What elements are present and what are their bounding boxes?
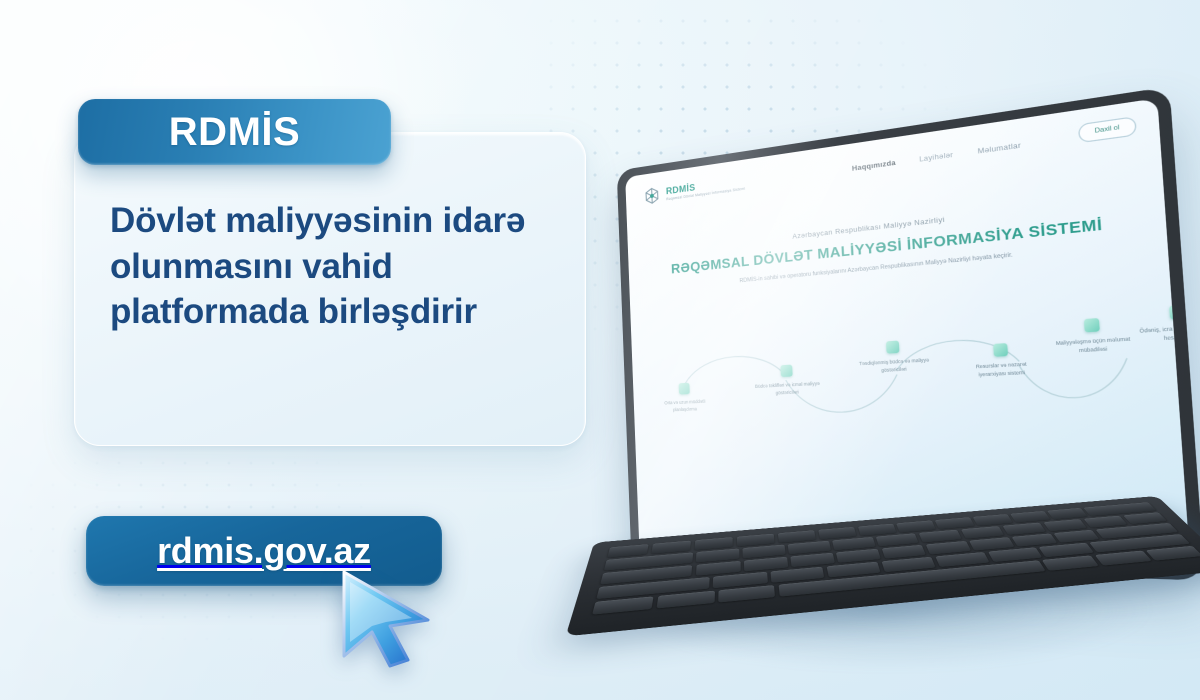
keyboard-key[interactable] bbox=[651, 541, 691, 554]
keyboard-key[interactable] bbox=[818, 527, 857, 540]
keyboard-key[interactable] bbox=[778, 530, 816, 543]
site-nav: Haqqımızda Layihələr Məlumatlar bbox=[852, 141, 1021, 172]
process-step: Orta və uzun müddətli planlaşdırma bbox=[654, 381, 716, 414]
process-step: Resurslar və nəzarət iyerarxiyası sistem… bbox=[961, 341, 1042, 380]
keyboard-key[interactable] bbox=[1083, 516, 1127, 528]
tablet-screen: RDMİS Rəqəmsal Dövlət Maliyyəsi İnformas… bbox=[625, 98, 1191, 570]
keyboard-key[interactable] bbox=[1002, 523, 1046, 536]
keyboard-key[interactable] bbox=[592, 596, 653, 614]
process-step-label: Ödəniş, icra və təhlil maliyyə hesabatla… bbox=[1134, 322, 1191, 344]
nav-item-melumatlar[interactable]: Məlumatlar bbox=[977, 141, 1021, 155]
process-step: Təsdiqlənmiş büdcə və maliyyə göstəricil… bbox=[857, 339, 931, 376]
rdmis-badge: RDMİS bbox=[78, 99, 391, 165]
process-steps: Orta və uzun müddətli planlaşdırma Büdcə… bbox=[645, 307, 1162, 459]
keyboard-key[interactable] bbox=[696, 548, 739, 562]
process-step: Ödəniş, icra və təhlil maliyyə hesabatla… bbox=[1133, 302, 1191, 345]
keyboard-key[interactable] bbox=[607, 544, 649, 558]
process-step: Maliyyələşmə üçün məlumat mübadiləsi bbox=[1049, 316, 1136, 357]
page-title: Dövlət maliyyəsinin idarə olunmasını vah… bbox=[110, 198, 540, 335]
keyboard-key[interactable] bbox=[897, 520, 936, 532]
keyboard-key[interactable] bbox=[744, 557, 788, 572]
tablet-device: RDMİS Rəqəmsal Dövlət Maliyyəsi İnformas… bbox=[596, 150, 1196, 700]
rdmis-logo-icon bbox=[642, 185, 662, 207]
keyboard-key[interactable] bbox=[737, 534, 775, 547]
site-logo[interactable]: RDMİS Rəqəmsal Dövlət Maliyyəsi İnformas… bbox=[642, 173, 745, 207]
site-logo-text: RDMİS Rəqəmsal Dövlət Maliyyəsi İnformas… bbox=[666, 176, 746, 202]
keyboard-key[interactable] bbox=[881, 545, 926, 559]
keyboard-key[interactable] bbox=[1123, 512, 1168, 524]
report-icon bbox=[1083, 318, 1099, 332]
keyboard-key[interactable] bbox=[791, 553, 835, 567]
keyboard-key[interactable] bbox=[656, 591, 714, 609]
keyboard-key[interactable] bbox=[1012, 533, 1058, 546]
login-button[interactable]: Daxil ol bbox=[1078, 116, 1137, 143]
keyboard-key[interactable] bbox=[935, 517, 975, 529]
keyboard-key[interactable] bbox=[857, 524, 896, 536]
analytics-icon bbox=[1169, 305, 1186, 320]
nav-item-layiheler[interactable]: Layihələr bbox=[919, 151, 953, 164]
check-icon bbox=[886, 341, 900, 354]
keyboard-key[interactable] bbox=[696, 561, 741, 576]
keyboard-key[interactable] bbox=[832, 537, 875, 550]
keyboard-key[interactable] bbox=[961, 526, 1005, 539]
keyboard-key[interactable] bbox=[1043, 519, 1087, 531]
process-step: Büdcə təklifləri və icmal maliyyə göstər… bbox=[753, 363, 821, 398]
keyboard-key[interactable] bbox=[919, 530, 963, 543]
keyboard-key[interactable] bbox=[1042, 555, 1099, 570]
chart-icon bbox=[780, 365, 792, 377]
keyboard-key[interactable] bbox=[1010, 511, 1050, 523]
promo-banner: RDMİS Rəqəmsal Dövlət Maliyyəsi İnformas… bbox=[0, 0, 1200, 700]
nav-item-haqqimizda[interactable]: Haqqımızda bbox=[852, 159, 896, 173]
keyboard-key[interactable] bbox=[718, 585, 775, 603]
keyboard-key[interactable] bbox=[926, 541, 971, 555]
keyboard-key[interactable] bbox=[788, 541, 831, 555]
process-step-label: Büdcə təklifləri və icmal maliyyə göstər… bbox=[754, 381, 821, 398]
keyboard-key[interactable] bbox=[694, 537, 733, 550]
mouse-pointer-icon bbox=[332, 568, 436, 668]
keyboard-key[interactable] bbox=[1054, 530, 1100, 543]
document-icon bbox=[679, 383, 690, 395]
keyboard-key[interactable] bbox=[969, 537, 1014, 550]
rdmis-badge-label: RDMİS bbox=[169, 110, 300, 155]
keyboard-key[interactable] bbox=[1047, 508, 1087, 519]
keyboard-key[interactable] bbox=[973, 514, 1013, 526]
keyboard-key[interactable] bbox=[836, 549, 881, 563]
keyboard-key[interactable] bbox=[743, 545, 786, 559]
website-url-label: rdmis.gov.az bbox=[157, 530, 371, 572]
keyboard-key[interactable] bbox=[876, 533, 919, 546]
keyboard-key[interactable] bbox=[1094, 551, 1151, 566]
process-step-label: Orta və uzun müddətli planlaşdırma bbox=[655, 398, 716, 414]
keyboard-key[interactable] bbox=[1146, 546, 1200, 561]
wallet-icon bbox=[993, 343, 1008, 357]
